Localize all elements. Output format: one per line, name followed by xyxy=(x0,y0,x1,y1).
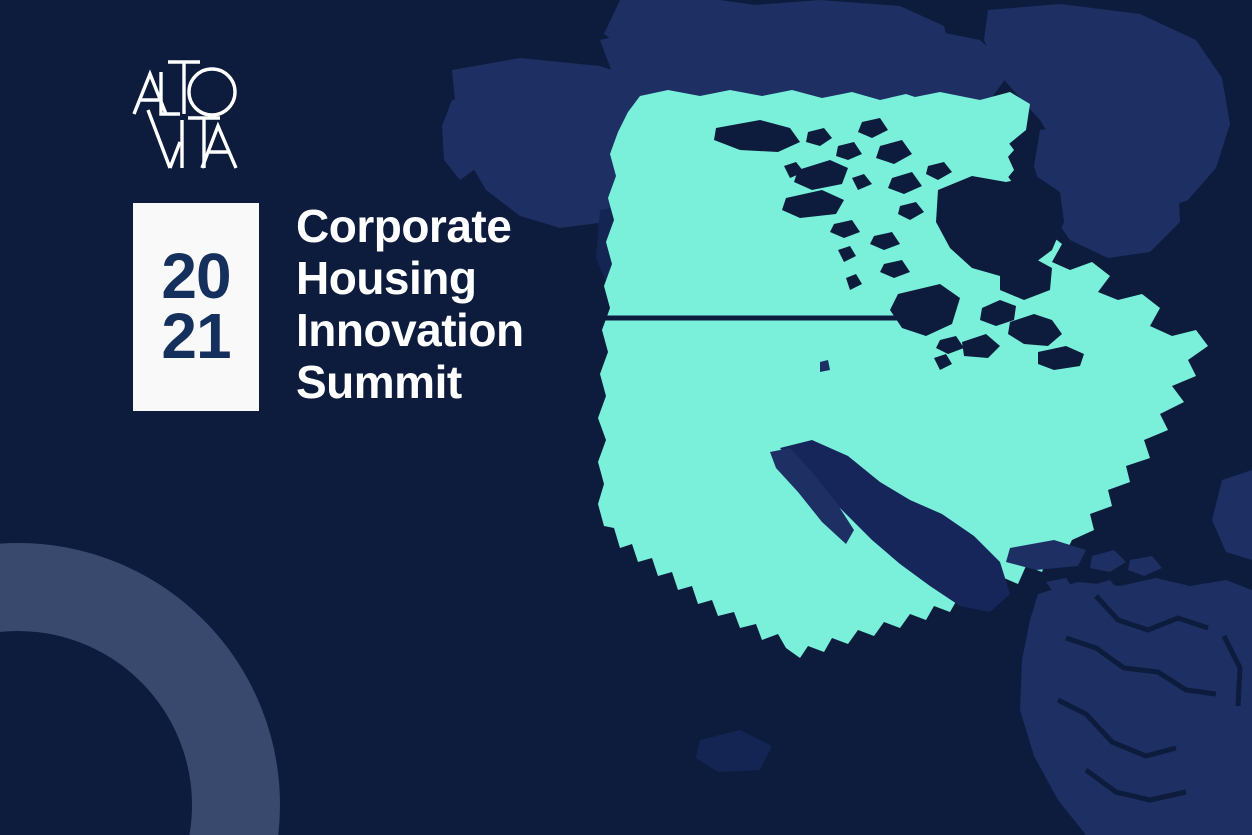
page-title-line-3: Innovation xyxy=(296,304,716,356)
page-title-line-2: Housing xyxy=(296,252,716,304)
year-badge-line-top: 20 xyxy=(161,247,230,307)
year-badge: 20 21 xyxy=(133,203,259,411)
page-title-line-4: Summit xyxy=(296,356,716,408)
altovita-logo-mark xyxy=(128,48,246,173)
altovita-logo[interactable] xyxy=(128,48,246,173)
summit-poster: 20 21 Corporate Housing Innovation Summi… xyxy=(0,0,1252,835)
page-title-line-1: Corporate xyxy=(296,200,716,252)
page-title: Corporate Housing Innovation Summit xyxy=(296,200,716,408)
year-badge-line-bottom: 21 xyxy=(161,307,230,367)
